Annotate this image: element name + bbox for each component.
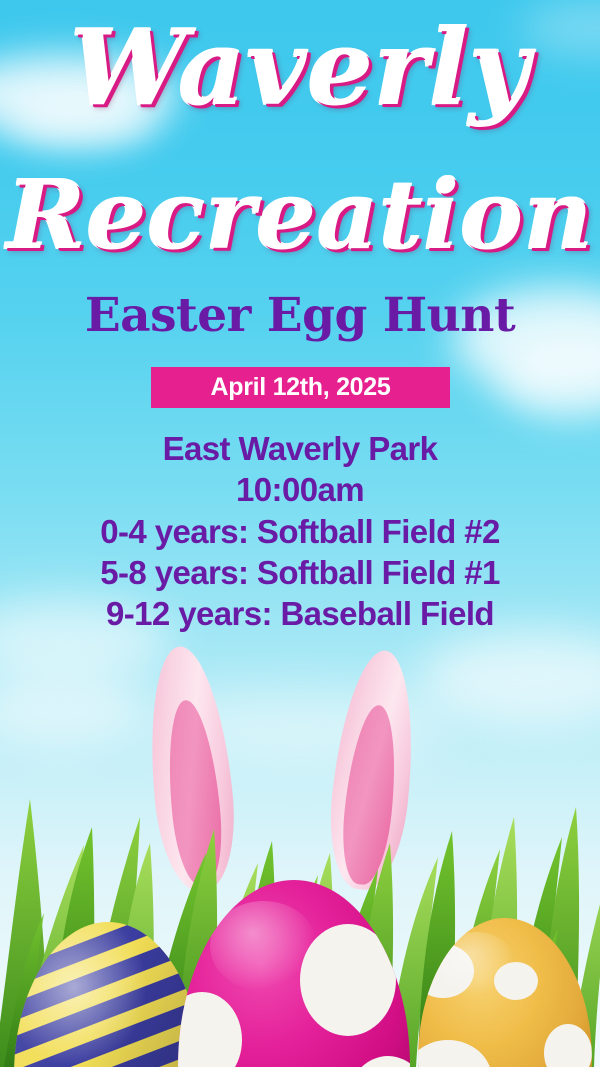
detail-age-group-0-4: 0-4 years: Softball Field #2 <box>0 511 600 552</box>
easter-egg-hunt-flyer: Waverly Recreation Easter Egg Hunt April… <box>0 0 600 1067</box>
event-title: Easter Egg Hunt <box>0 291 600 340</box>
detail-location: East Waverly Park <box>0 428 600 469</box>
cloud-icon <box>498 340 600 420</box>
event-details-list: East Waverly Park 10:00am 0-4 years: Sof… <box>0 428 600 634</box>
organization-title-line-1: Waverly <box>0 16 600 120</box>
event-date-text: April 12th, 2025 <box>210 373 390 402</box>
detail-age-group-9-12: 9-12 years: Baseball Field <box>0 593 600 634</box>
detail-time: 10:00am <box>0 469 600 510</box>
organization-title-line-2: Recreation <box>0 168 600 263</box>
event-date-badge: April 12th, 2025 <box>151 367 450 408</box>
detail-age-group-5-8: 5-8 years: Softball Field #1 <box>0 552 600 593</box>
